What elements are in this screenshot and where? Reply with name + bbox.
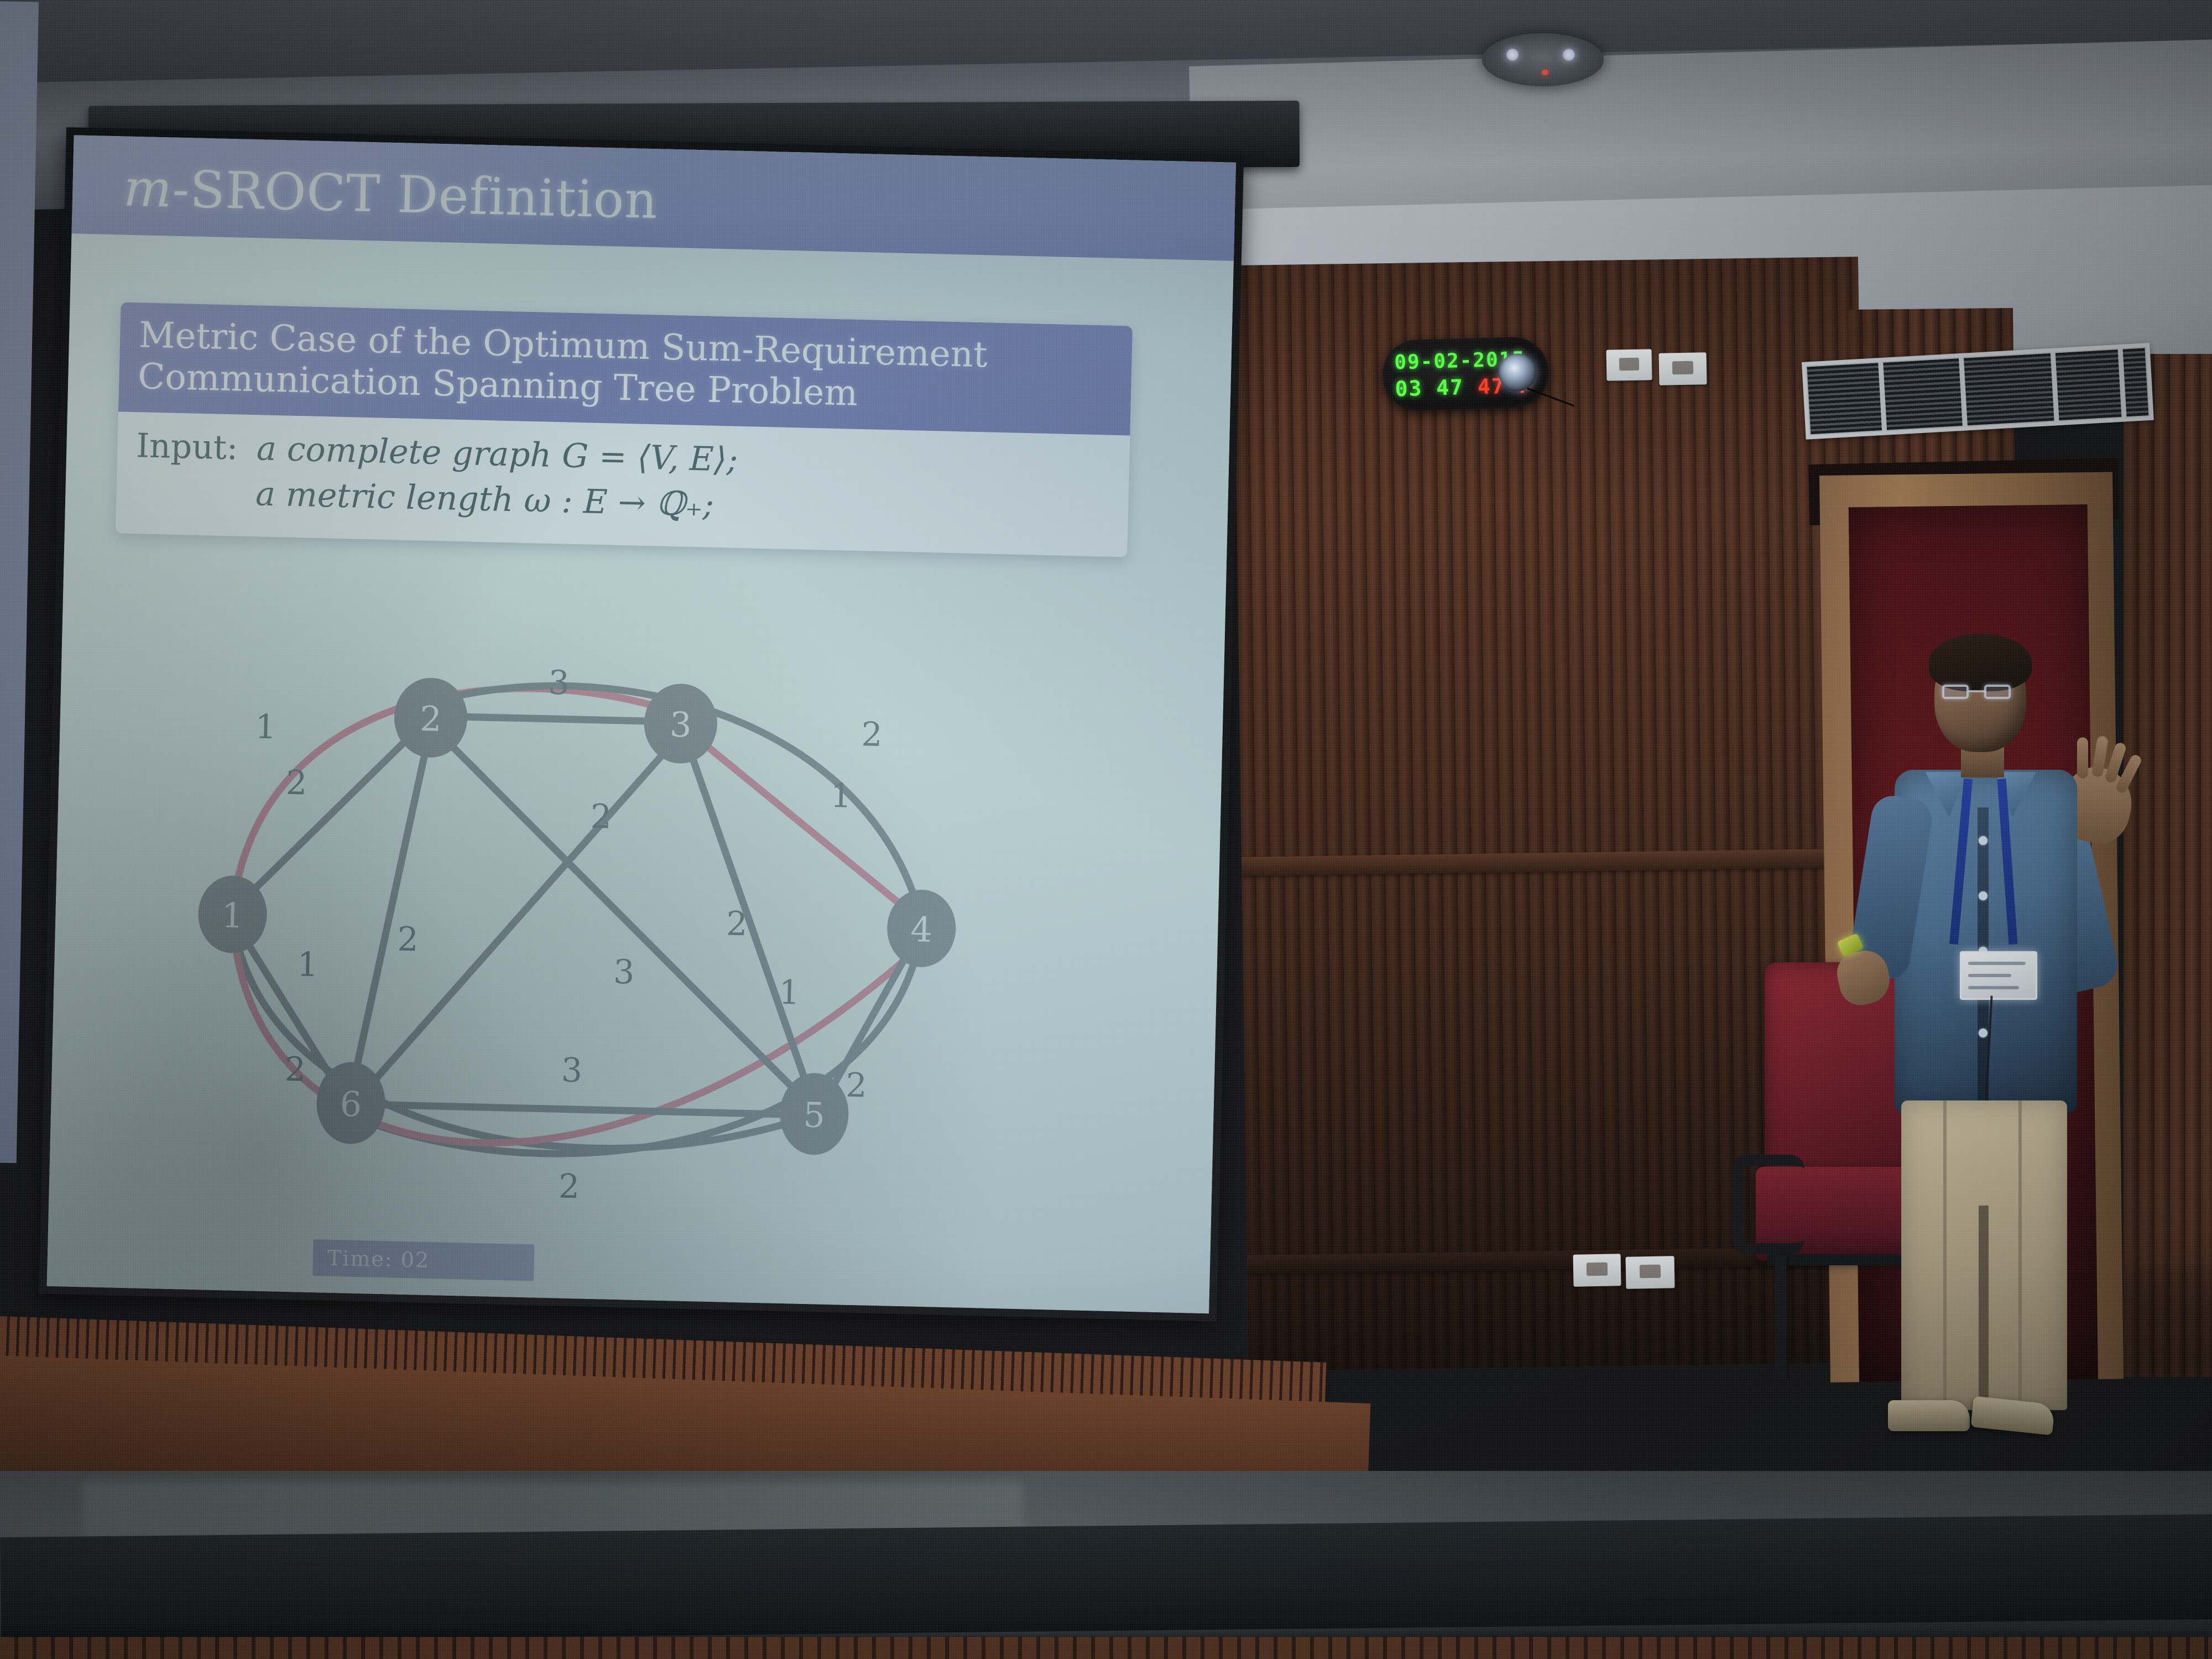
weight-2-4: 2: [861, 715, 883, 754]
wall-plate-outlet-2[interactable]: [1626, 1256, 1675, 1289]
fixture-lamp-right: [1563, 49, 1575, 61]
slide-title-rest: -SROCT Definition: [171, 160, 658, 231]
badge-line-1: [1968, 962, 2026, 965]
finger-2: [2091, 735, 2109, 778]
wall-plate-switch-2[interactable]: [1659, 352, 1707, 385]
input-line-2: a metric length ω : E → ℚ₊;: [255, 474, 737, 524]
weight-5-6: 3: [561, 1051, 583, 1091]
weight-1-5: 2: [284, 1050, 306, 1089]
vertex-label-4: 4: [910, 909, 933, 950]
chair-armrest: [1733, 1155, 1804, 1254]
weight-2-3: 3: [548, 664, 570, 703]
presenter: [1841, 641, 2140, 1454]
digital-clock: 09-02-2015 03 47 47 P: [1381, 336, 1549, 411]
vertex-label-2: 2: [419, 698, 442, 739]
presenter-shoe-left: [1888, 1400, 1970, 1431]
shirt-button-4: [1979, 1029, 1987, 1037]
glasses-left-lens: [1942, 685, 1969, 699]
edge-3-5: [676, 736, 823, 1107]
input-line-1: a complete graph G = ⟨V, E⟩;: [256, 429, 738, 479]
smoke-detector-icon: [1482, 33, 1604, 86]
graph-diagram: 1 2 3 4 5 6 1 2 1: [182, 625, 980, 1207]
slide: m-SROCT Definition Metric Case of the Op…: [47, 135, 1236, 1313]
glasses-bridge: [1969, 690, 1985, 692]
shirt-button-2: [1979, 891, 1987, 900]
vertex-label-1: 1: [221, 895, 244, 936]
weight-4-5: 1: [779, 973, 801, 1013]
badge-line-2: [1968, 974, 2011, 977]
fixture-lamp-left: [1506, 49, 1519, 61]
glasses-right-lens: [1984, 685, 2011, 699]
presenter-hair: [1929, 634, 2032, 691]
weight-1-4: 2: [558, 1167, 580, 1207]
input-lines: a complete graph G = ⟨V, E⟩; a metric le…: [255, 429, 738, 524]
vertex-label-6: 6: [340, 1084, 362, 1125]
secondary-projection: for the Case of Optimum Requirement Comm…: [0, 0, 39, 1163]
weight-2-6: 2: [397, 920, 419, 959]
slide-title-italic-m: m: [123, 158, 173, 218]
wall-plate-outlet-1[interactable]: [1573, 1254, 1621, 1286]
vertex-label-5: 5: [803, 1094, 826, 1135]
screen-frame: m-SROCT Definition Metric Case of the Op…: [39, 127, 1244, 1322]
weight-1-6: 1: [297, 945, 319, 984]
graph-svg: 1 2 3 4 5 6 1 2 1: [182, 625, 980, 1207]
vertex-label-3: 3: [669, 705, 692, 745]
input-label: Input:: [135, 426, 238, 513]
edge-6-5: [350, 1104, 812, 1115]
edge-2-3: [431, 716, 680, 722]
definition-body: Input: a complete graph G = ⟨V, E⟩; a me…: [116, 411, 1130, 557]
name-badge: [1960, 951, 2037, 1000]
trouser-crease-right: [2018, 1100, 2022, 1410]
auditorium-photo-scene: 09-02-2015 03 47 47 P m-SROCT Definition…: [0, 0, 2212, 1659]
weight-3-5: 2: [726, 905, 748, 944]
weight-2-5: 2: [590, 797, 612, 837]
trouser-crease-left: [1943, 1100, 1947, 1410]
slide-footer: Time: 02: [312, 1239, 534, 1281]
wall-plate-switch-1[interactable]: [1606, 349, 1652, 380]
stage-edge-trim: [0, 1637, 2212, 1659]
shirt-button-1: [1979, 836, 1987, 845]
vent-grille: [1806, 347, 2150, 435]
trouser-inseam: [1979, 1206, 1989, 1410]
fixture-indicator-led: [1542, 70, 1548, 75]
weight-4-6: 2: [846, 1066, 868, 1105]
finger-1: [2077, 737, 2088, 778]
clock-minute: 47: [1436, 375, 1464, 400]
weight-1-3: 1: [255, 707, 277, 747]
clock-hour: 03: [1395, 376, 1423, 401]
weight-1-2: 2: [285, 764, 307, 803]
slide-title: m-SROCT Definition: [123, 158, 659, 230]
definition-block: Metric Case of the Optimum Sum-Requireme…: [116, 302, 1133, 557]
weight-3-6: 3: [613, 953, 635, 992]
weight-3-4: 1: [830, 776, 852, 816]
screen-surface: m-SROCT Definition Metric Case of the Op…: [47, 135, 1236, 1313]
badge-line-3: [1968, 986, 2019, 989]
projection-screen: m-SROCT Definition Metric Case of the Op…: [39, 127, 1244, 1322]
chair-leg-left: [1775, 1255, 1787, 1380]
edge-3-6: [358, 728, 680, 1106]
